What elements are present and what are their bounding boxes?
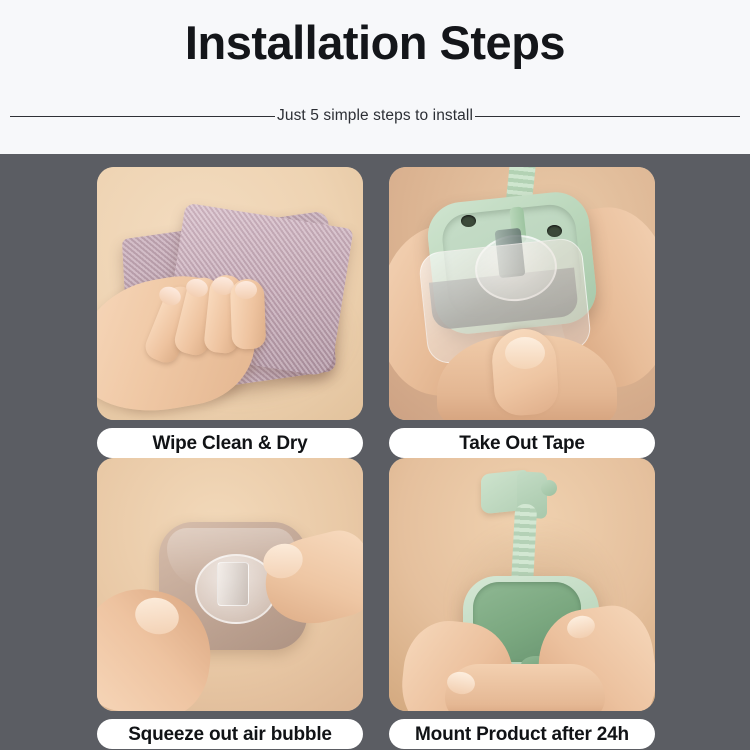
step-label-pill-1: Wipe Clean & Dry (97, 428, 363, 458)
step-card-3[interactable]: Squeeze out air bubble (97, 458, 363, 711)
divider-left (10, 116, 275, 117)
fingers-pressing-adhesive-pad-photo (97, 458, 363, 711)
steps-grid: Wipe Clean & Dry (0, 154, 750, 750)
step-label-pill-2: Take Out Tape (389, 428, 655, 458)
step-label-1: Wipe Clean & Dry (153, 434, 308, 453)
hands-removing-tape-photo (389, 167, 655, 420)
hand-mounting-product-photo (389, 458, 655, 711)
step-card-1[interactable]: Wipe Clean & Dry (97, 167, 363, 420)
step-label-2: Take Out Tape (459, 434, 585, 453)
step-label-pill-3: Squeeze out air bubble (97, 719, 363, 749)
page-title: Installation Steps (0, 17, 750, 70)
page-subtitle: Just 5 simple steps to install (275, 107, 475, 125)
step-label-pill-4: Mount Product after 24h (389, 719, 655, 749)
divider-right (475, 116, 740, 117)
hand-wiping-cloth-photo (97, 167, 363, 420)
step-label-4: Mount Product after 24h (415, 725, 629, 744)
step-card-4[interactable]: Mount Product after 24h (389, 458, 655, 711)
step-label-3: Squeeze out air bubble (128, 725, 332, 744)
page-header: Installation Steps Just 5 simple steps t… (0, 0, 750, 154)
subtitle-row: Just 5 simple steps to install (10, 103, 740, 129)
step-card-2[interactable]: Take Out Tape (389, 167, 655, 420)
